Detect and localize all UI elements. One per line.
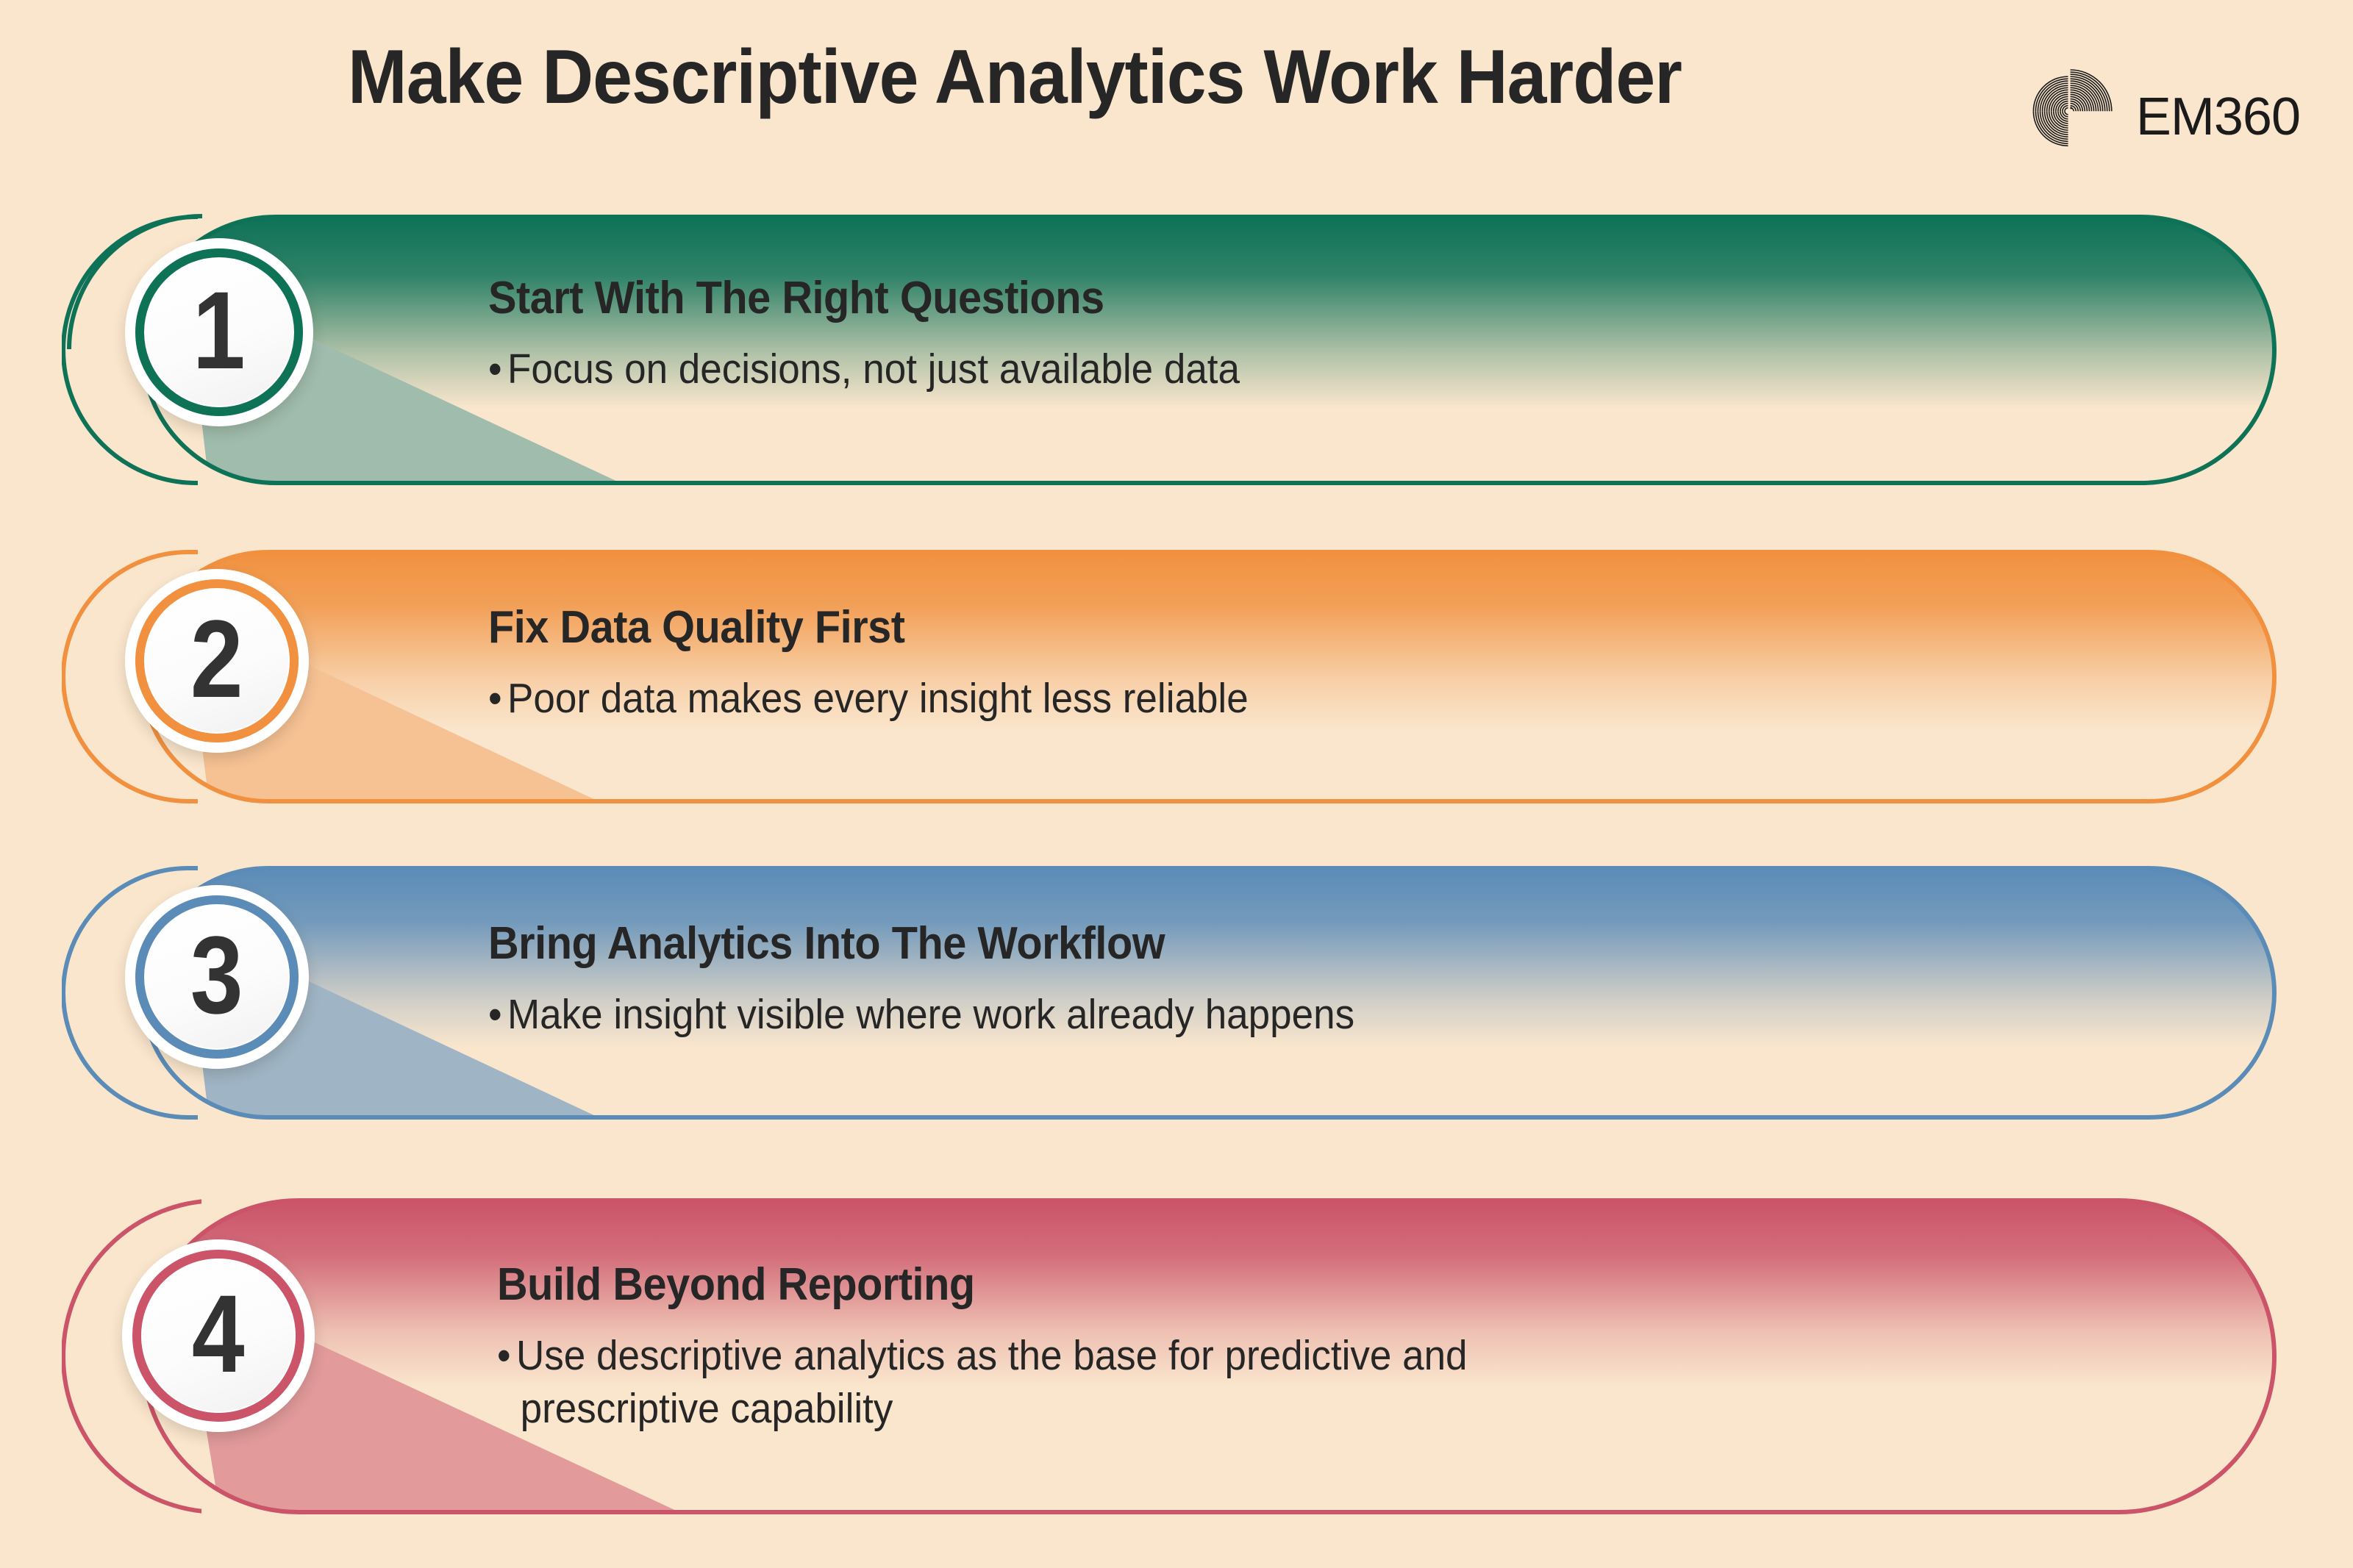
step-title: Bring Analytics Into The Workflow bbox=[488, 917, 1354, 970]
step-content-1: Start With The Right Questions •Focus on… bbox=[488, 272, 1296, 396]
step-row-4[interactable]: 4 Build Beyond Reporting •Use descriptiv… bbox=[62, 1198, 2277, 1516]
step-number-label: 1 bbox=[193, 275, 246, 385]
brand-logo: EM360 bbox=[2011, 21, 2300, 175]
page-title: Make Descriptive Analytics Work Harder bbox=[71, 35, 1959, 119]
step-bullet-text: Focus on decisions, not just available d… bbox=[507, 346, 1240, 393]
step-bullet: •Poor data makes every insight less reli… bbox=[488, 673, 1249, 726]
step-number-badge-2: 2 bbox=[125, 569, 309, 753]
step-bullet-text-line2: prescriptive capability bbox=[497, 1383, 1468, 1436]
step-number-label: 2 bbox=[190, 604, 243, 714]
step-bullet-text: Poor data makes every insight less relia… bbox=[507, 675, 1249, 722]
step-bullet-text: Use descriptive analytics as the base fo… bbox=[516, 1332, 1468, 1379]
infographic-poster: Make Descriptive Analytics Work Harder bbox=[0, 0, 2353, 1568]
step-number-label: 3 bbox=[190, 920, 243, 1030]
brand-name: EM360 bbox=[2136, 87, 2300, 147]
step-number-badge-3: 3 bbox=[125, 885, 309, 1069]
bullet-marker-icon: • bbox=[497, 1330, 511, 1383]
step-title: Start With The Right Questions bbox=[488, 272, 1240, 324]
step-number-label: 4 bbox=[192, 1278, 245, 1389]
step-title: Fix Data Quality First bbox=[488, 601, 1249, 654]
bullet-marker-icon: • bbox=[488, 343, 502, 396]
bullet-marker-icon: • bbox=[488, 989, 502, 1042]
bullet-marker-icon: • bbox=[488, 673, 502, 726]
step-bullet: •Make insight visible where work already… bbox=[488, 989, 1354, 1042]
step-content-2: Fix Data Quality First •Poor data makes … bbox=[488, 601, 1306, 726]
step-bullet-text: Make insight visible where work already … bbox=[507, 991, 1354, 1038]
step-title: Build Beyond Reporting bbox=[497, 1259, 1468, 1311]
step-bullet: •Focus on decisions, not just available … bbox=[488, 343, 1240, 396]
step-bullet: •Use descriptive analytics as the base f… bbox=[497, 1330, 1468, 1436]
em360-arc-logo-icon bbox=[2011, 42, 2123, 154]
step-content-3: Bring Analytics Into The Workflow •Make … bbox=[488, 917, 1420, 1042]
step-row-2[interactable]: 2 Fix Data Quality First •Poor data make… bbox=[62, 550, 2277, 803]
step-row-3[interactable]: 3 Bring Analytics Into The Workflow •Mak… bbox=[62, 866, 2277, 1120]
step-row-1[interactable]: 1 Start With The Right Questions •Focus … bbox=[62, 215, 2277, 485]
step-content-4: Build Beyond Reporting •Use descriptive … bbox=[497, 1259, 1540, 1436]
step-number-badge-4: 4 bbox=[122, 1239, 315, 1432]
step-number-badge-1: 1 bbox=[125, 238, 313, 426]
poster-header: Make Descriptive Analytics Work Harder bbox=[0, 0, 2353, 206]
